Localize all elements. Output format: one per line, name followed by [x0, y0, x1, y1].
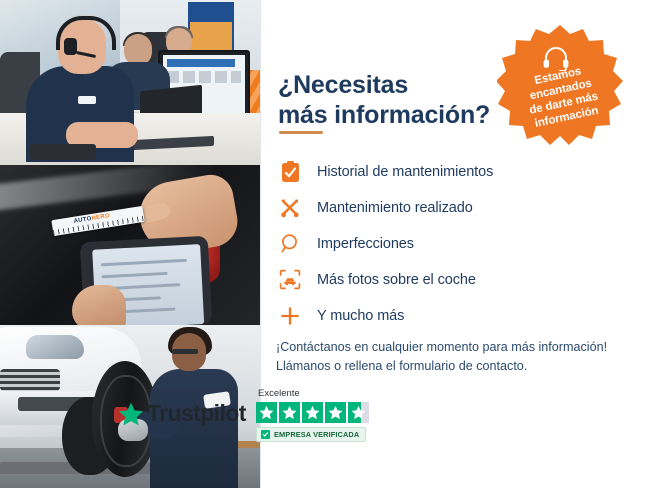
plus-icon: [275, 303, 305, 329]
technician-safety-glasses: [172, 349, 198, 354]
contact-text-line-2: Llámanos o rellena el formulario de cont…: [276, 359, 527, 373]
title-underline-rule: [279, 131, 323, 134]
contact-text-line-1: ¡Contáctanos en cualquier momento para m…: [276, 340, 607, 354]
trustpilot-widget[interactable]: Trustpilot Excelente: [118, 388, 388, 450]
magnifier-icon: [275, 231, 305, 257]
rating-star-3: [302, 402, 323, 423]
contact-text: ¡Contáctanos en cualquier momento para m…: [276, 338, 636, 376]
feature-list: Historial de mantenimientos M: [275, 155, 615, 335]
feature-label: Mantenimiento realizado: [305, 200, 473, 216]
call-center-agents-photo: [0, 0, 260, 165]
rating-star-4: [325, 402, 346, 423]
trustpilot-rating-label: Excelente: [258, 388, 369, 399]
car-inspection-ruler-photo: AUTOHERO: [0, 165, 260, 325]
tablet-text-line: [101, 259, 187, 266]
verified-company-badge: EMPRESA VERIFICADA: [256, 427, 366, 442]
trustpilot-rating: Excelente: [256, 388, 369, 443]
feature-item-mas: Y mucho más: [275, 299, 615, 332]
wall-poster-secondary: [190, 22, 232, 52]
car-grille: [0, 369, 60, 391]
agent-one-name-badge: [78, 96, 96, 104]
crossed-tools-icon: [275, 195, 305, 221]
feature-item-mantenimiento: Mantenimiento realizado: [275, 191, 615, 224]
feature-label: Y mucho más: [305, 308, 404, 324]
monitor-header-bar: [167, 59, 235, 67]
feature-item-fotos: Más fotos sobre el coche: [275, 263, 615, 296]
feature-label: Imperfecciones: [305, 236, 414, 252]
headset-icon: [541, 45, 571, 71]
trustpilot-wordmark: Trustpilot: [147, 400, 246, 427]
page-title-line-2: más información?: [278, 101, 490, 129]
verified-company-label: EMPRESA VERIFICADA: [274, 430, 359, 439]
feature-label: Historial de mantenimientos: [305, 164, 493, 180]
starburst-shape: [497, 23, 623, 149]
page-title: ¿Necesitas más información?: [278, 70, 518, 130]
car-viewfinder-icon: [275, 267, 305, 293]
verified-check-icon: [261, 430, 270, 439]
tablet-text-line: [102, 272, 168, 278]
information-card: AUTOHERO: [0, 0, 650, 488]
trustpilot-star-rating: [256, 402, 369, 423]
rating-star-5-partial: [348, 402, 369, 423]
desk-tablet: [30, 144, 96, 160]
trustpilot-logo[interactable]: Trustpilot: [118, 400, 246, 427]
feature-item-historial: Historial de mantenimientos: [275, 155, 615, 188]
trustpilot-star-icon: [118, 401, 144, 427]
car-headlight: [26, 335, 84, 359]
page-title-line-1: ¿Necesitas: [278, 71, 408, 99]
clipboard-check-icon: [275, 159, 305, 185]
feature-label: Más fotos sobre el coche: [305, 272, 476, 288]
rating-star-1: [256, 402, 277, 423]
inspector-hand-holding-tablet: [72, 285, 126, 325]
support-badge: Estamos encantados de darte más informac…: [497, 23, 623, 149]
rating-star-2: [279, 402, 300, 423]
monitor-thumbnails: [167, 71, 241, 83]
feature-item-imperfecciones: Imperfecciones: [275, 227, 615, 260]
